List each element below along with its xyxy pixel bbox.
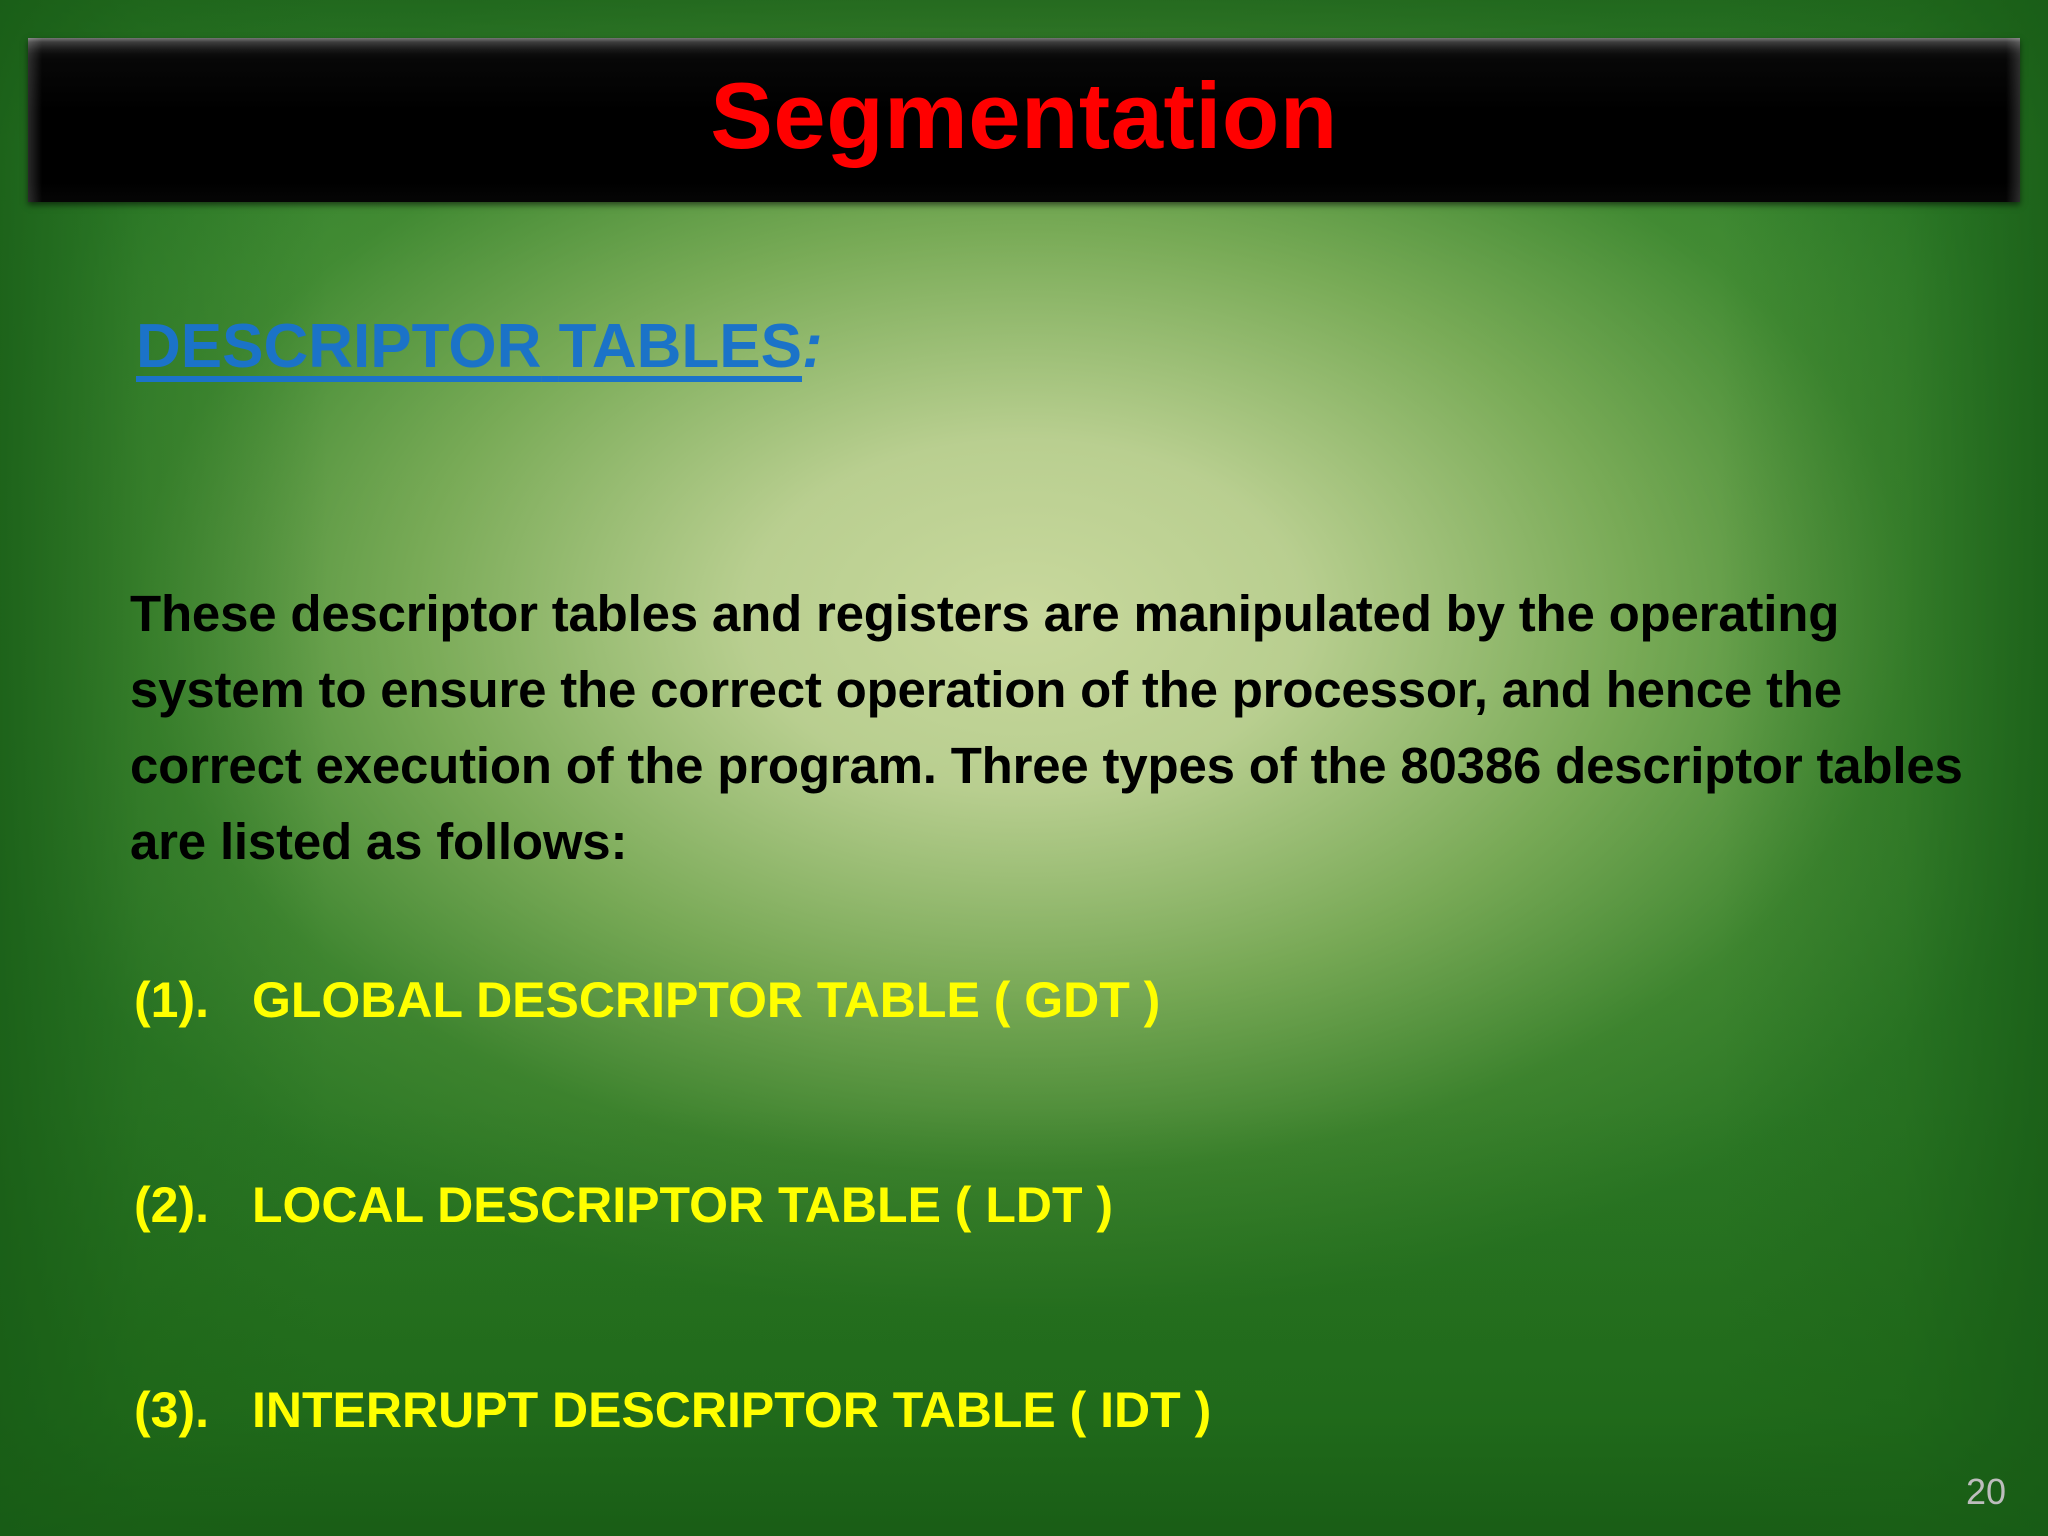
section-heading: DESCRIPTOR TABLES: (136, 316, 823, 378)
section-heading-colon: : (802, 312, 823, 381)
list-item: (2).LOCAL DESCRIPTOR TABLE ( LDT ) (134, 1180, 1994, 1385)
list-item-label: GLOBAL DESCRIPTOR TABLE ( GDT ) (252, 972, 1160, 1028)
page-number: 20 (1966, 1474, 2006, 1510)
section-heading-word-tables: TABLES (559, 312, 802, 381)
page-title: Segmentation (710, 69, 1338, 163)
body-paragraph: These descriptor tables and registers ar… (130, 576, 2010, 880)
slide: Segmentation DESCRIPTOR TABLES: These de… (0, 0, 2048, 1536)
section-heading-word-descriptor: DESCRIPTOR (136, 312, 541, 381)
list-item: (1).GLOBAL DESCRIPTOR TABLE ( GDT ) (134, 975, 1994, 1180)
list-item-number: (1). (134, 975, 252, 1025)
list-item-number: (3). (134, 1385, 252, 1435)
descriptor-table-list: (1).GLOBAL DESCRIPTOR TABLE ( GDT ) (2).… (134, 975, 1994, 1536)
list-item-number: (2). (134, 1180, 252, 1230)
list-item-label: INTERRUPT DESCRIPTOR TABLE ( IDT ) (252, 1382, 1211, 1438)
title-banner: Segmentation (28, 38, 2020, 202)
list-item-label: LOCAL DESCRIPTOR TABLE ( LDT ) (252, 1177, 1113, 1233)
list-item: (3).INTERRUPT DESCRIPTOR TABLE ( IDT ) (134, 1385, 1994, 1536)
